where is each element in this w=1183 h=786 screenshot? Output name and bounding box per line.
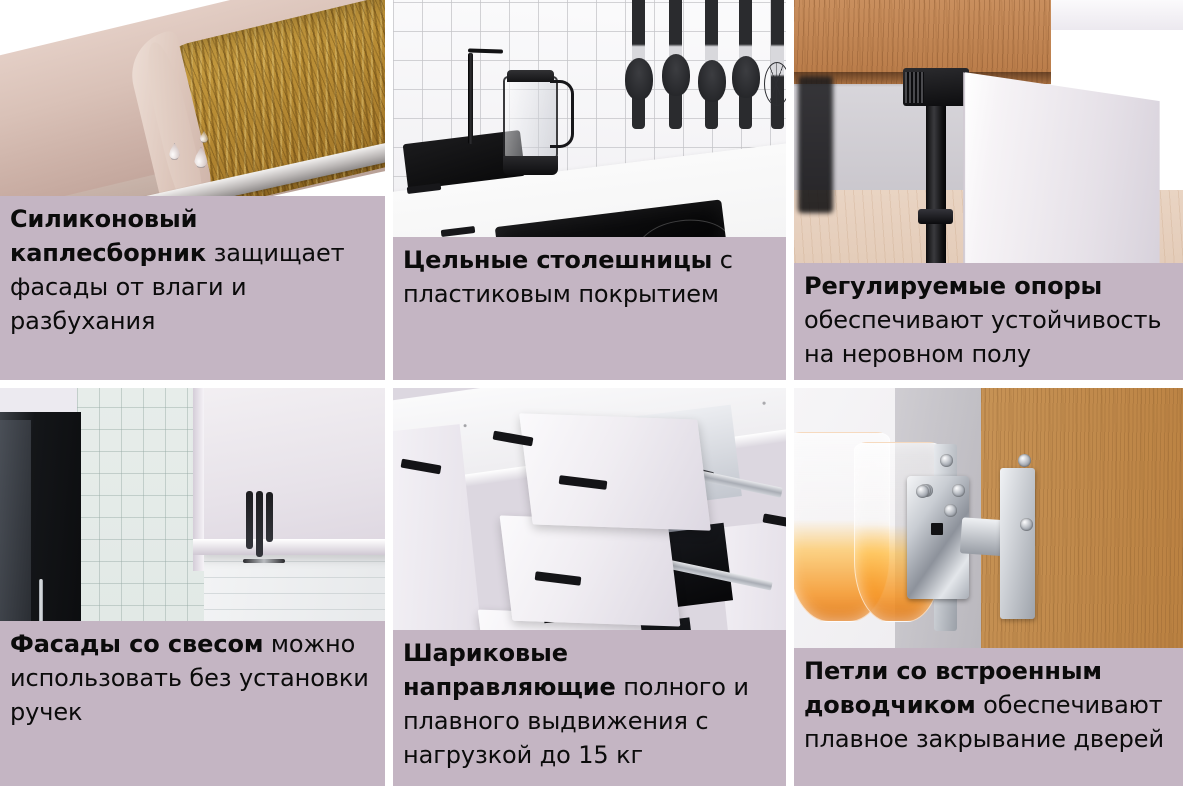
- caption-bold-text: Шариковые направляющие: [403, 639, 616, 701]
- feature-card-monolithic-countertop[interactable]: Цельные столешницы с пластиковым покрыти…: [393, 0, 786, 380]
- caption-silicone-drip-catcher: Силиконовый каплесборник защищает фасады…: [0, 196, 385, 380]
- caption-overhang-facades: Фасады со свесом можно использовать без …: [0, 621, 385, 786]
- caption-bold-text: Силиконовый каплесборник: [10, 205, 206, 267]
- caption-ball-bearing-slides: Шариковые направляющие полного и плавног…: [393, 630, 786, 786]
- feature-card-soft-close-hinges[interactable]: Петли со встроенным доводчиком обеспечив…: [794, 388, 1183, 786]
- feature-card-ball-bearing-slides[interactable]: Шариковые направляющие полного и плавног…: [393, 388, 786, 786]
- caption-rest-text: обеспечивают устойчивость на неровном по…: [804, 306, 1161, 368]
- caption-bold-text: Фасады со свесом: [10, 630, 263, 658]
- features-grid: Силиконовый каплесборник защищает фасады…: [0, 0, 1183, 786]
- caption-bold-text: Цельные столешницы: [403, 246, 712, 274]
- feature-card-adjustable-legs[interactable]: Регулируемые опоры обеспечивают устойчив…: [794, 0, 1183, 380]
- caption-monolithic-countertop: Цельные столешницы с пластиковым покрыти…: [393, 237, 786, 380]
- caption-bold-text: Регулируемые опоры: [804, 272, 1102, 300]
- feature-card-silicone-drip-catcher[interactable]: Силиконовый каплесборник защищает фасады…: [0, 0, 385, 380]
- caption-adjustable-legs: Регулируемые опоры обеспечивают устойчив…: [794, 263, 1183, 380]
- caption-soft-close-hinges: Петли со встроенным доводчиком обеспечив…: [794, 648, 1183, 786]
- feature-card-overhang-facades[interactable]: Фасады со свесом можно использовать без …: [0, 388, 385, 786]
